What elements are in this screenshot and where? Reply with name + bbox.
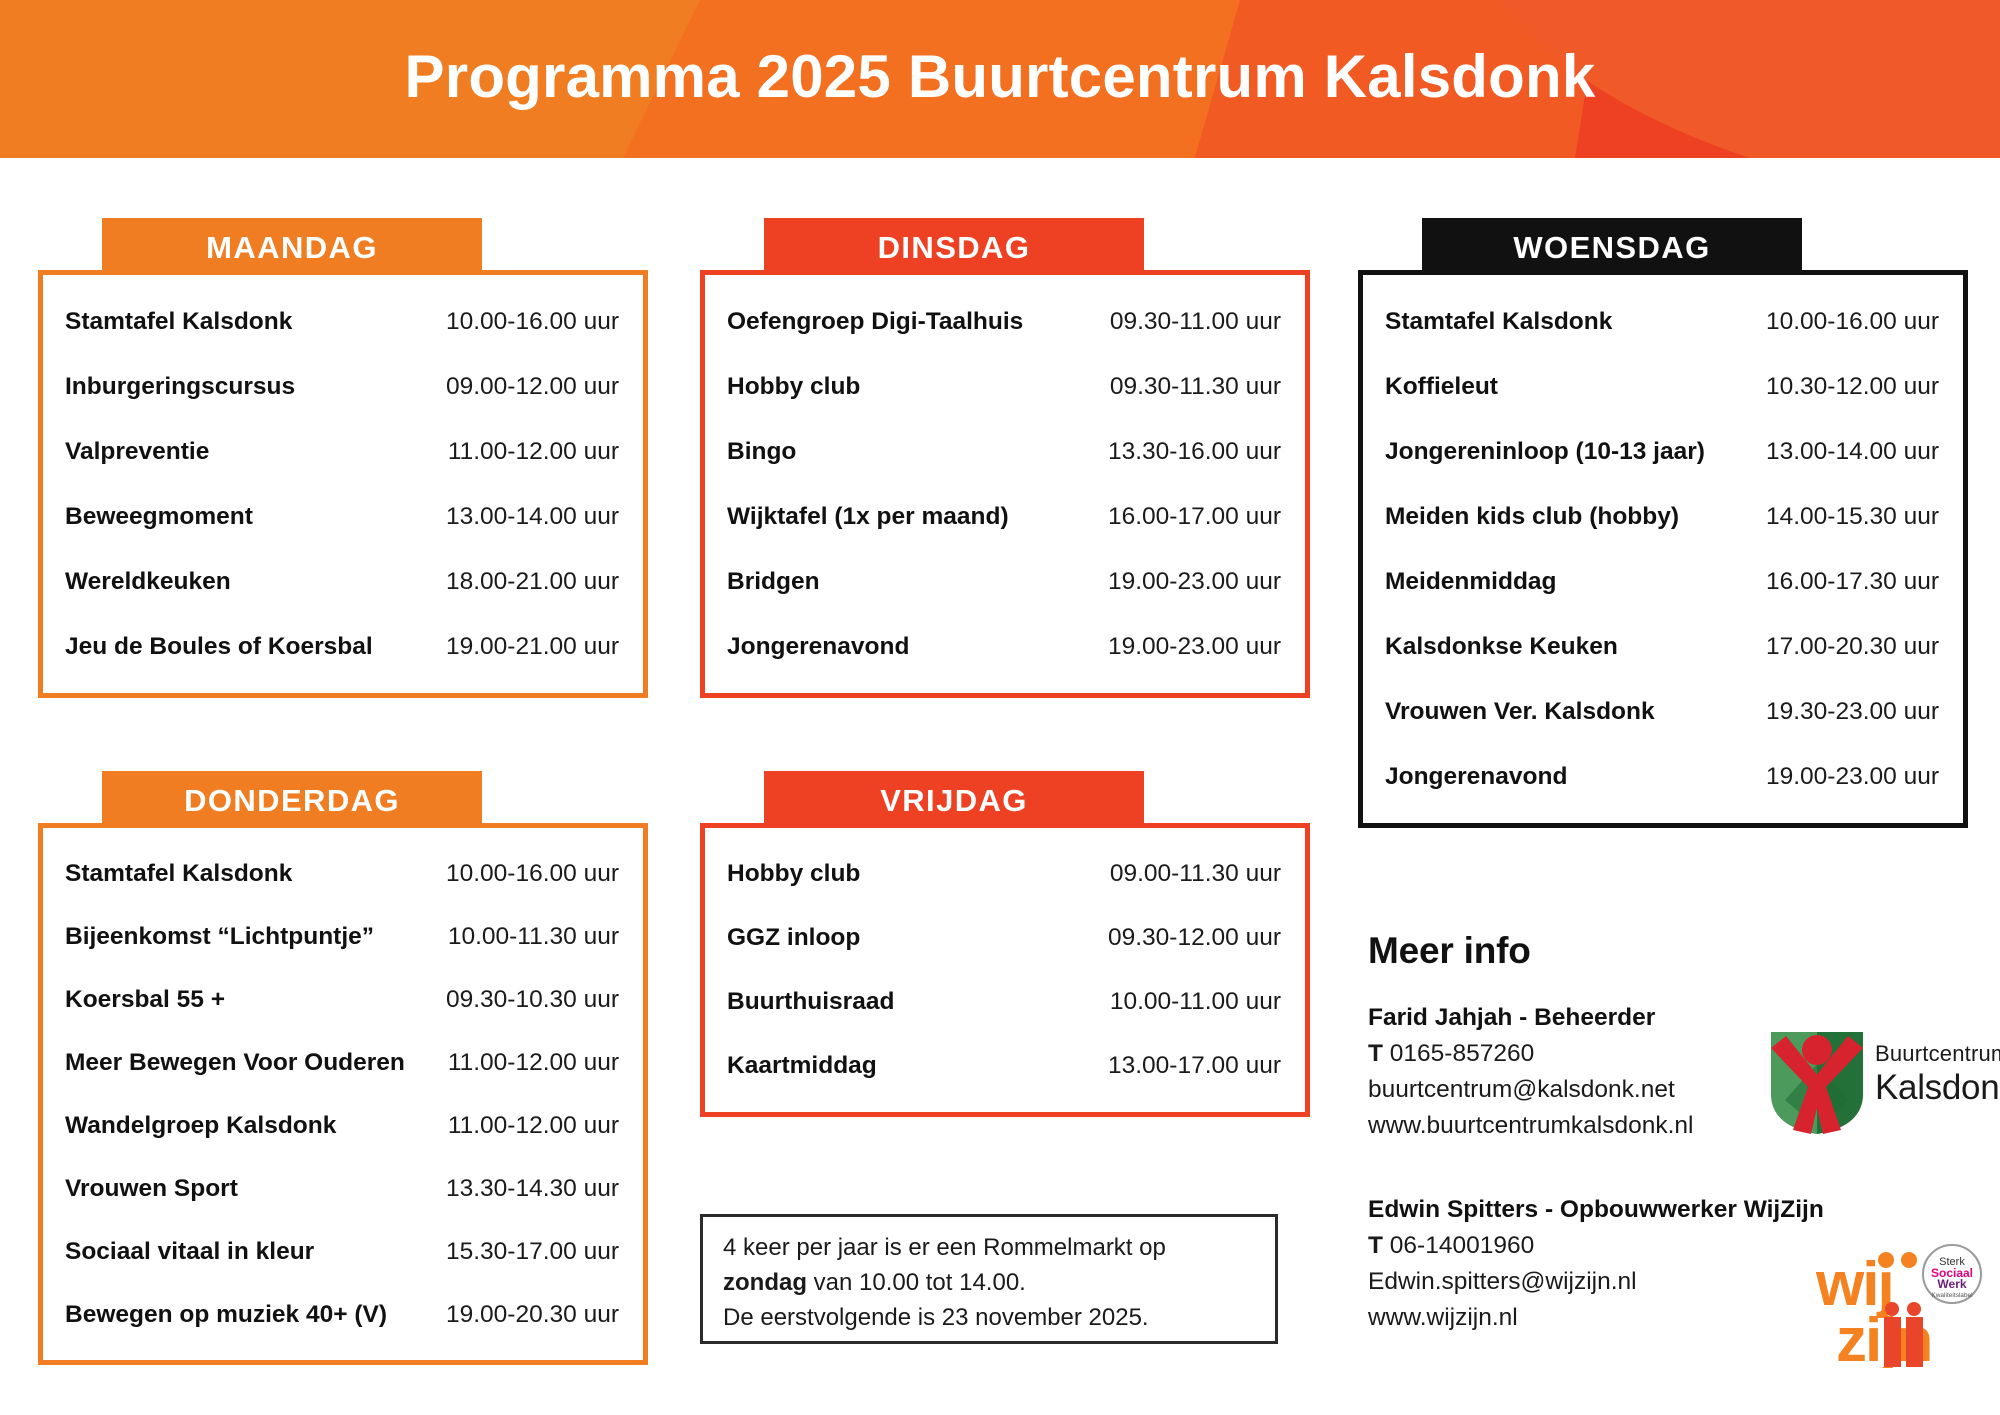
activity-name: Jongereninloop (10-13 jaar) xyxy=(1363,419,1744,484)
day-schedule-table: Stamtafel Kalsdonk10.00-16.00 uurBijeenk… xyxy=(43,842,643,1346)
wijzijn-logo: wij zijn Sterk Sociaal Werk Kwaliteitsla… xyxy=(1810,1243,1990,1368)
activity-time: 09.00-11.30 uur xyxy=(999,842,1305,906)
activity-name: Inburgeringscursus xyxy=(43,354,419,419)
activity-name: Hobby club xyxy=(705,842,999,906)
activity-time: 19.00-23.00 uur xyxy=(1076,549,1305,614)
phone-label: T xyxy=(1368,1040,1383,1067)
activity-time: 11.00-12.00 uur xyxy=(419,419,643,484)
table-row: Stamtafel Kalsdonk10.00-16.00 uur xyxy=(43,289,643,354)
table-row: Beweegmoment13.00-14.00 uur xyxy=(43,484,643,549)
day-schedule-table: Stamtafel Kalsdonk10.00-16.00 uurInburge… xyxy=(43,289,643,679)
table-row: Valpreventie11.00-12.00 uur xyxy=(43,419,643,484)
activity-time: 10.00-11.00 uur xyxy=(999,970,1305,1034)
day-tab-dinsdag: DINSDAG xyxy=(764,218,1144,278)
activity-time: 10.30-12.00 uur xyxy=(1744,354,1963,419)
rommelmarkt-note: 4 keer per jaar is er een Rommelmarkt op… xyxy=(700,1214,1278,1344)
activity-name: Meidenmiddag xyxy=(1363,549,1744,614)
activity-name: Wijktafel (1x per maand) xyxy=(705,484,1076,549)
activity-name: Oefengroep Digi-Taalhuis xyxy=(705,289,1076,354)
activity-time: 11.00-12.00 uur xyxy=(432,1031,644,1094)
activity-name: Koersbal 55 + xyxy=(43,968,432,1031)
activity-time: 15.30-17.00 uur xyxy=(432,1220,644,1283)
table-row: Stamtafel Kalsdonk10.00-16.00 uur xyxy=(1363,289,1963,354)
table-row: Bridgen19.00-23.00 uur xyxy=(705,549,1305,614)
activity-name: Vrouwen Ver. Kalsdonk xyxy=(1363,679,1744,744)
activity-time: 09.30-12.00 uur xyxy=(999,906,1305,970)
table-row: Jeu de Boules of Koersbal19.00-21.00 uur xyxy=(43,614,643,679)
table-row: Wijktafel (1x per maand)16.00-17.00 uur xyxy=(705,484,1305,549)
activity-name: Bewegen op muziek 40+ (V) xyxy=(43,1283,432,1346)
activity-time: 10.00-16.00 uur xyxy=(432,842,644,905)
day-tab-vrijdag: VRIJDAG xyxy=(764,771,1144,831)
activity-time: 19.00-23.00 uur xyxy=(1076,614,1305,679)
table-row: Hobby club09.30-11.30 uur xyxy=(705,354,1305,419)
activity-name: Hobby club xyxy=(705,354,1076,419)
activity-time: 17.00-20.30 uur xyxy=(1744,614,1963,679)
activity-time: 09.30-11.00 uur xyxy=(1076,289,1305,354)
more-info-heading: Meer info xyxy=(1368,930,2000,972)
activity-time: 19.00-20.30 uur xyxy=(432,1283,644,1346)
activity-name: Kalsdonkse Keuken xyxy=(1363,614,1744,679)
contact-name: Edwin Spitters - Opbouwwerker WijZijn xyxy=(1368,1192,2000,1228)
day-panel-dinsdag: Oefengroep Digi-Taalhuis09.30-11.00 uurH… xyxy=(700,270,1310,698)
table-row: Koersbal 55 +09.30-10.30 uur xyxy=(43,968,643,1031)
wijzijn-logo-icon: wij zijn Sterk Sociaal Werk Kwaliteitsla… xyxy=(1810,1243,1990,1368)
day-schedule-table: Stamtafel Kalsdonk10.00-16.00 uurKoffiel… xyxy=(1363,289,1963,809)
activity-time: 13.00-14.00 uur xyxy=(419,484,643,549)
activity-name: Vrouwen Sport xyxy=(43,1157,432,1220)
day-schedule-table: Oefengroep Digi-Taalhuis09.30-11.00 uurH… xyxy=(705,289,1305,679)
day-panel-maandag: Stamtafel Kalsdonk10.00-16.00 uurInburge… xyxy=(38,270,648,698)
activity-name: Bingo xyxy=(705,419,1076,484)
kalsdonk-logo-line1: Buurtcentrum xyxy=(1875,1040,2000,1068)
activity-name: Bridgen xyxy=(705,549,1076,614)
table-row: Meer Bewegen Voor Ouderen11.00-12.00 uur xyxy=(43,1031,643,1094)
wijzijn-quality-badge-icon: Sterk Sociaal Werk Kwaliteitslabel xyxy=(1923,1245,1981,1303)
activity-time: 18.00-21.00 uur xyxy=(419,549,643,614)
day-tab-woensdag: WOENSDAG xyxy=(1422,218,1802,278)
note-line-3: De eerstvolgende is 23 november 2025. xyxy=(723,1300,1275,1335)
note-day-bold: zondag xyxy=(723,1269,807,1296)
day-panel-vrijdag: Hobby club09.00-11.30 uurGGZ inloop09.30… xyxy=(700,823,1310,1117)
activity-name: Meiden kids club (hobby) xyxy=(1363,484,1744,549)
activity-time: 14.00-15.30 uur xyxy=(1744,484,1963,549)
table-row: Vrouwen Sport13.30-14.30 uur xyxy=(43,1157,643,1220)
table-row: Wandelgroep Kalsdonk11.00-12.00 uur xyxy=(43,1094,643,1157)
activity-name: Meer Bewegen Voor Ouderen xyxy=(43,1031,432,1094)
table-row: Bijeenkomst “Lichtpuntje”10.00-11.30 uur xyxy=(43,905,643,968)
activity-time: 19.00-23.00 uur xyxy=(1744,744,1963,809)
buurtcentrum-kalsdonk-logo: Buurtcentrum Kalsdonk xyxy=(1765,1026,1995,1142)
activity-name: Wereldkeuken xyxy=(43,549,419,614)
activity-name: Stamtafel Kalsdonk xyxy=(1363,289,1744,354)
activity-name: Jongerenavond xyxy=(705,614,1076,679)
activity-name: Stamtafel Kalsdonk xyxy=(43,289,419,354)
note-line-2-rest: van 10.00 tot 14.00. xyxy=(807,1269,1026,1296)
table-row: Wereldkeuken18.00-21.00 uur xyxy=(43,549,643,614)
table-row: Bingo13.30-16.00 uur xyxy=(705,419,1305,484)
table-row: Jongereninloop (10-13 jaar)13.00-14.00 u… xyxy=(1363,419,1963,484)
activity-time: 09.00-12.00 uur xyxy=(419,354,643,419)
activity-time: 19.30-23.00 uur xyxy=(1744,679,1963,744)
table-row: Sociaal vitaal in kleur15.30-17.00 uur xyxy=(43,1220,643,1283)
activity-time: 10.00-16.00 uur xyxy=(419,289,643,354)
activity-name: GGZ inloop xyxy=(705,906,999,970)
activity-time: 09.30-10.30 uur xyxy=(432,968,644,1031)
phone-number: 06-14001960 xyxy=(1390,1232,1534,1259)
activity-name: Buurthuisraad xyxy=(705,970,999,1034)
activity-time: 13.30-14.30 uur xyxy=(432,1157,644,1220)
table-row: Jongerenavond19.00-23.00 uur xyxy=(705,614,1305,679)
activity-name: Bijeenkomst “Lichtpuntje” xyxy=(43,905,432,968)
activity-time: 11.00-12.00 uur xyxy=(432,1094,644,1157)
table-row: Buurthuisraad10.00-11.00 uur xyxy=(705,970,1305,1034)
activity-name: Stamtafel Kalsdonk xyxy=(43,842,432,905)
table-row: Kalsdonkse Keuken17.00-20.30 uur xyxy=(1363,614,1963,679)
activity-name: Jongerenavond xyxy=(1363,744,1744,809)
day-tab-maandag: MAANDAG xyxy=(102,218,482,278)
table-row: Oefengroep Digi-Taalhuis09.30-11.00 uur xyxy=(705,289,1305,354)
table-row: Meidenmiddag16.00-17.30 uur xyxy=(1363,549,1963,614)
activity-name: Sociaal vitaal in kleur xyxy=(43,1220,432,1283)
activity-time: 16.00-17.30 uur xyxy=(1744,549,1963,614)
svg-text:Werk: Werk xyxy=(1937,1277,1966,1291)
activity-time: 13.30-16.00 uur xyxy=(1076,419,1305,484)
kalsdonk-logo-mark-icon xyxy=(1765,1026,1869,1136)
day-panel-donderdag: Stamtafel Kalsdonk10.00-16.00 uurBijeenk… xyxy=(38,823,648,1365)
note-line-2: zondag van 10.00 tot 14.00. xyxy=(723,1265,1275,1300)
table-row: Vrouwen Ver. Kalsdonk19.30-23.00 uur xyxy=(1363,679,1963,744)
table-row: Meiden kids club (hobby)14.00-15.30 uur xyxy=(1363,484,1963,549)
table-row: Stamtafel Kalsdonk10.00-16.00 uur xyxy=(43,842,643,905)
svg-text:Kwaliteitslabel: Kwaliteitslabel xyxy=(1931,1292,1973,1299)
activity-time: 13.00-14.00 uur xyxy=(1744,419,1963,484)
activity-time: 16.00-17.00 uur xyxy=(1076,484,1305,549)
table-row: Inburgeringscursus09.00-12.00 uur xyxy=(43,354,643,419)
activity-name: Jeu de Boules of Koersbal xyxy=(43,614,419,679)
table-row: Hobby club09.00-11.30 uur xyxy=(705,842,1305,906)
activity-time: 09.30-11.30 uur xyxy=(1076,354,1305,419)
activity-time: 19.00-21.00 uur xyxy=(419,614,643,679)
table-row: Bewegen op muziek 40+ (V)19.00-20.30 uur xyxy=(43,1283,643,1346)
day-schedule-table: Hobby club09.00-11.30 uurGGZ inloop09.30… xyxy=(705,842,1305,1098)
activity-name: Wandelgroep Kalsdonk xyxy=(43,1094,432,1157)
activity-name: Koffieleut xyxy=(1363,354,1744,419)
activity-time: 10.00-16.00 uur xyxy=(1744,289,1963,354)
activity-name: Beweegmoment xyxy=(43,484,419,549)
table-row: GGZ inloop09.30-12.00 uur xyxy=(705,906,1305,970)
kalsdonk-logo-line2: Kalsdonk xyxy=(1875,1068,2000,1108)
page-header-banner: Programma 2025 Buurtcentrum Kalsdonk xyxy=(0,0,2000,158)
table-row: Jongerenavond19.00-23.00 uur xyxy=(1363,744,1963,809)
kalsdonk-logo-wordmark: Buurtcentrum Kalsdonk xyxy=(1875,1040,2000,1108)
activity-time: 10.00-11.30 uur xyxy=(432,905,644,968)
activity-name: Kaartmiddag xyxy=(705,1034,999,1098)
activity-name: Valpreventie xyxy=(43,419,419,484)
table-row: Kaartmiddag13.00-17.00 uur xyxy=(705,1034,1305,1098)
phone-label: T xyxy=(1368,1232,1383,1259)
day-tab-donderdag: DONDERDAG xyxy=(102,771,482,831)
note-line-1: 4 keer per jaar is er een Rommelmarkt op xyxy=(723,1230,1275,1265)
activity-time: 13.00-17.00 uur xyxy=(999,1034,1305,1098)
page-title: Programma 2025 Buurtcentrum Kalsdonk xyxy=(0,0,2000,158)
table-row: Koffieleut10.30-12.00 uur xyxy=(1363,354,1963,419)
phone-number: 0165-857260 xyxy=(1390,1040,1534,1067)
day-panel-woensdag: Stamtafel Kalsdonk10.00-16.00 uurKoffiel… xyxy=(1358,270,1968,828)
